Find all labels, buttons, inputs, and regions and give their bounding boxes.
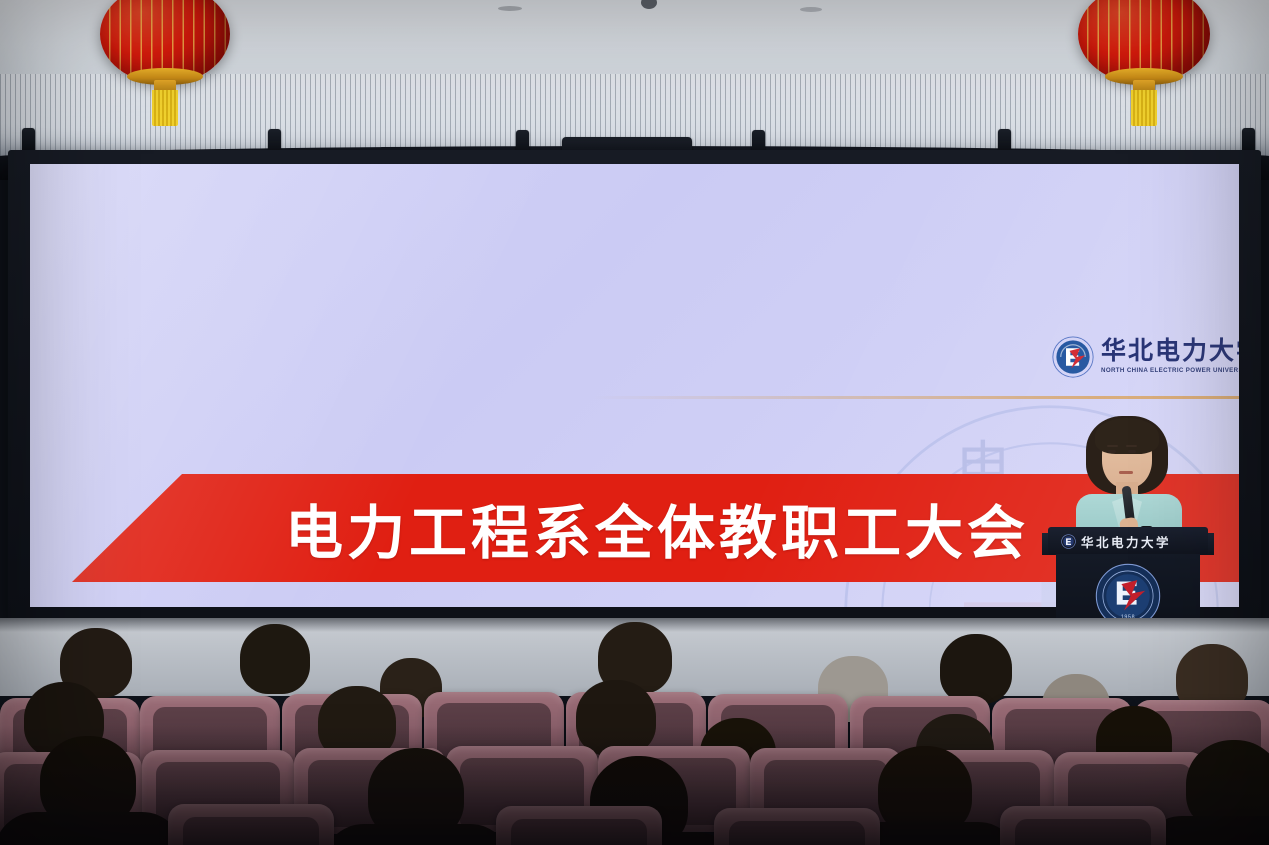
presenter-eye [1108,450,1116,453]
gold-rule-divider [590,396,1239,399]
audience-seat [496,806,662,845]
ceiling-vent-icon [498,6,522,11]
lantern-tassel [1131,90,1157,126]
audience-shoulder [0,812,184,845]
audience-head [576,680,656,756]
lectern-nameplate-text: 华北电力大学 [1081,532,1171,551]
audience-shoulder [322,824,512,845]
conference-hall-photo: NORTH CH 电 力 华 [0,0,1269,845]
audience-seat [714,808,880,845]
seated-audience [0,620,1269,845]
audience-seat [168,804,334,845]
university-name-en: NORTH CHINA ELECTRIC POWER UNIVERSITY [1101,368,1239,374]
presenter-hair-front [1095,418,1159,454]
audience-seat [1000,806,1166,845]
ceiling-vent-icon [800,7,822,12]
university-logo: 华北电力大学 NORTH CHINA ELECTRIC POWER UNIVER… [1052,336,1239,378]
audience-head [940,634,1012,704]
university-name-cn: 华北电力大学 [1101,339,1239,364]
audience-head [240,624,310,694]
lectern-nameplate: 华北电力大学 [1048,527,1208,555]
university-logo-text: 华北电力大学 NORTH CHINA ELECTRIC POWER UNIVER… [1101,339,1239,374]
presenter-mouth [1119,471,1133,474]
lantern-tassel [152,90,178,126]
presenter-brow [1107,445,1118,447]
university-logo-mark-icon [1052,336,1094,378]
lectern-logo-mark-icon [1061,534,1076,549]
presenter-brow [1126,445,1137,447]
slide-title-text: 电力工程系全体教职工大会 [285,486,1029,570]
presenter-eye [1128,450,1136,453]
